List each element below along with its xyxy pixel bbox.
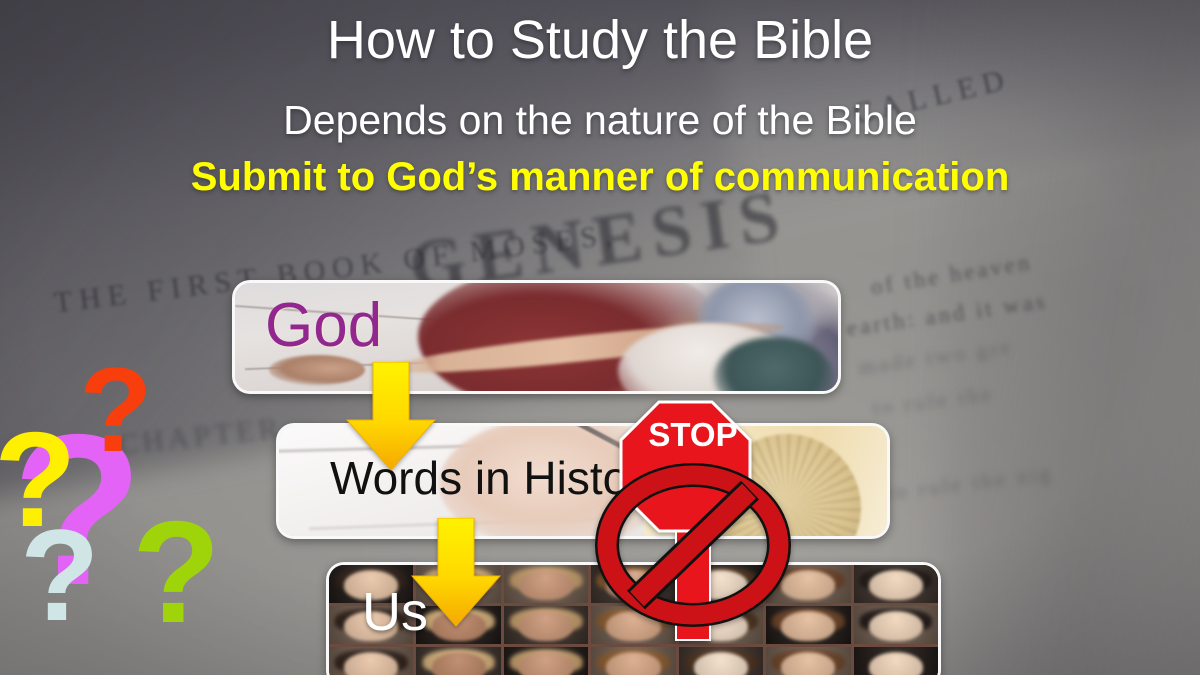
question-mark-cluster: ?????: [0, 350, 254, 675]
face-hair: [335, 649, 408, 673]
slide-canvas: THE FIRST BOOK OF MOSES, CALLED GENESIS …: [0, 0, 1200, 675]
face-hair: [772, 649, 845, 673]
arrow-down-icon: [410, 518, 502, 628]
face-hair: [859, 649, 932, 673]
face-head: [781, 653, 835, 675]
face-head: [869, 612, 923, 642]
face-thumbnail: [854, 606, 938, 644]
face-head: [344, 653, 398, 675]
stop-and-prohibition-group[interactable]: STOP: [592, 398, 807, 643]
face-thumbnail: [504, 647, 588, 675]
subtitle-secondary: Submit to God’s manner of communication: [0, 156, 1200, 198]
face-head: [606, 653, 660, 675]
face-head: [432, 653, 486, 675]
face-thumbnail: [416, 647, 500, 675]
face-hair: [859, 608, 932, 632]
face-hair: [859, 567, 932, 591]
face-thumbnail: [504, 606, 588, 644]
face-thumbnail: [854, 565, 938, 603]
face-head: [869, 653, 923, 675]
arrow-down-icon: [345, 362, 437, 472]
title-block: How to Study the Bible Depends on the na…: [0, 0, 1200, 198]
face-hair: [685, 649, 758, 673]
face-hair: [510, 649, 583, 673]
face-head: [519, 571, 573, 601]
face-head: [694, 653, 748, 675]
face-head: [869, 571, 923, 601]
face-hair: [597, 649, 670, 673]
face-thumbnail: [679, 647, 763, 675]
question-mark-icon: ?: [132, 500, 221, 645]
face-head: [519, 653, 573, 675]
face-head: [519, 612, 573, 642]
face-thumbnail: [504, 565, 588, 603]
face-thumbnail: [766, 647, 850, 675]
face-hair: [422, 649, 495, 673]
question-mark-icon: ?: [20, 510, 99, 640]
page-title: How to Study the Bible: [0, 0, 1200, 69]
face-hair: [510, 608, 583, 632]
face-thumbnail: [854, 647, 938, 675]
subtitle-primary: Depends on the nature of the Bible: [0, 99, 1200, 142]
question-mark-icon: ?: [79, 350, 152, 470]
stop-sign-label: STOP: [648, 416, 737, 453]
face-thumbnail: [591, 647, 675, 675]
face-hair: [510, 567, 583, 591]
face-thumbnail: [329, 647, 413, 675]
flow-box-god-label: God: [265, 295, 382, 357]
